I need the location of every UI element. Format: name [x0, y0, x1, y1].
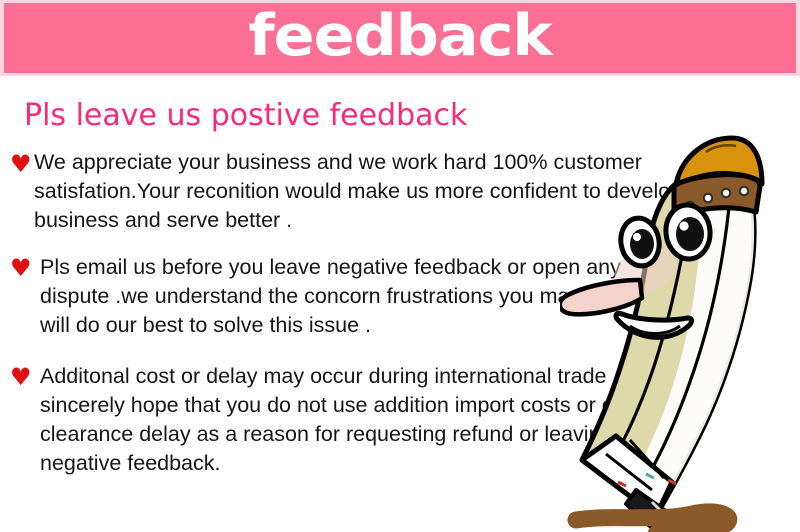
list-item: ♥ Additonal cost or delay may occur duri…	[10, 362, 690, 478]
tip-glint	[652, 502, 660, 510]
feedback-banner-page: feedback Pls leave us postive feedback ♥…	[0, 0, 800, 532]
heart-icon: ♥	[10, 365, 32, 389]
feedback-policy-list: ♥ We appreciate your business and we wor…	[0, 148, 690, 492]
header-banner: feedback	[0, 0, 800, 76]
list-item: ♥ Pls email us before you leave negative…	[10, 253, 690, 340]
list-item-text: Pls email us before you leave negative f…	[40, 255, 672, 337]
list-item-text: We appreciate your business and we work …	[34, 150, 682, 232]
pencil-tip	[626, 490, 670, 528]
heart-icon: ♥	[10, 152, 32, 176]
eraser-highlight	[706, 145, 736, 152]
ferrule-rivet	[740, 187, 748, 195]
list-item-text: Additonal cost or delay may occur during…	[40, 364, 671, 475]
subtitle: Pls leave us postive feedback	[24, 100, 467, 132]
list-item: ♥ We appreciate your business and we wor…	[10, 148, 690, 235]
ferrule-rivet	[704, 194, 712, 202]
page-title: feedback	[248, 8, 551, 65]
scribble	[576, 512, 729, 532]
ferrule-rivet	[722, 189, 730, 197]
heart-icon: ♥	[10, 256, 32, 280]
header-banner-inner: feedback	[4, 3, 796, 73]
